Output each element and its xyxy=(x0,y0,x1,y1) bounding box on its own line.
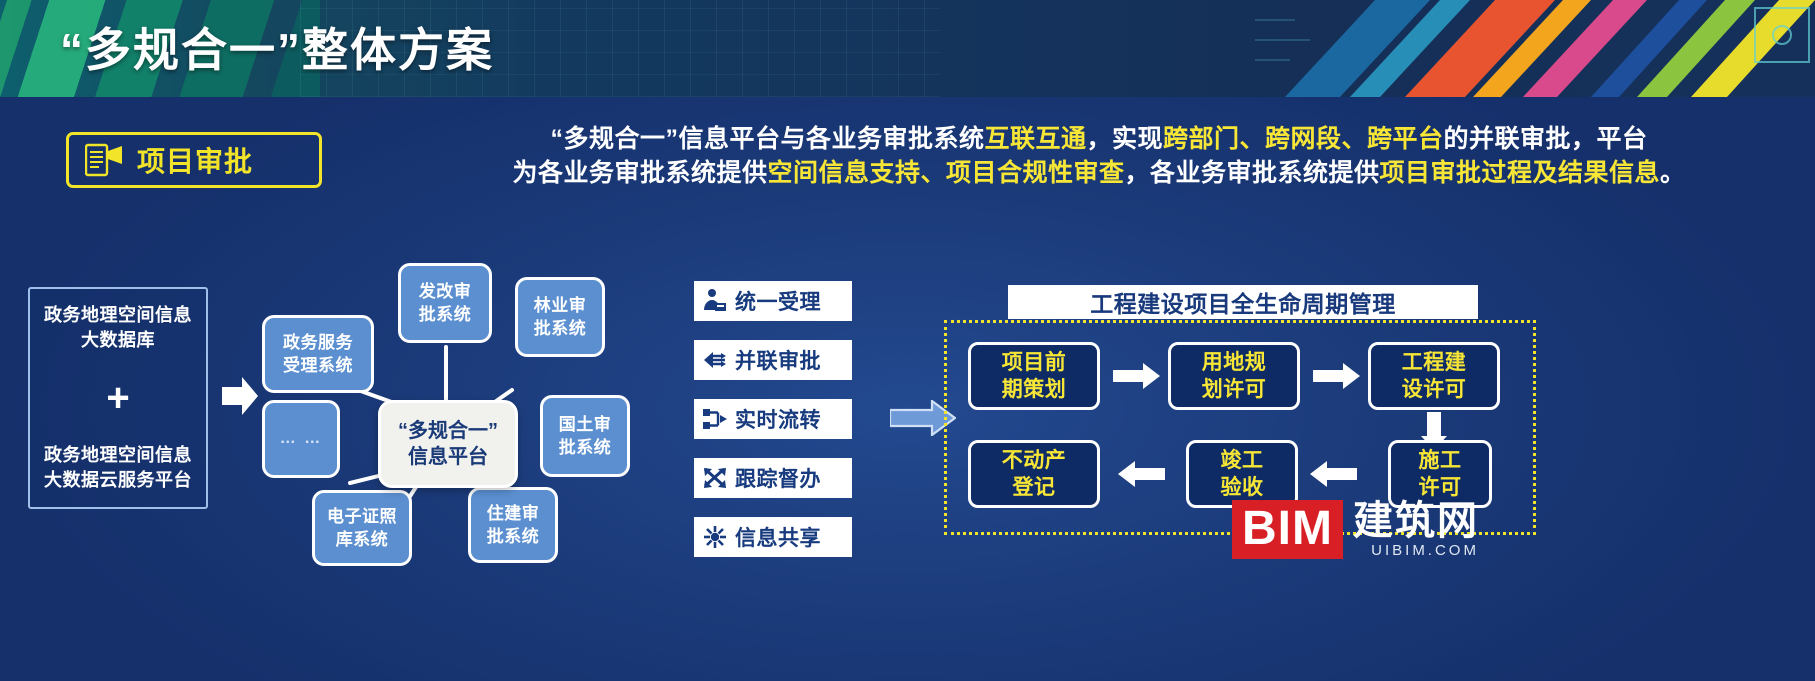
desc-l2-highlight-2: 项目审批过程及结果信息 xyxy=(1380,159,1661,187)
lifecycle-step-3-label: 工程建 设许可 xyxy=(1402,349,1467,403)
lifecycle-step-5[interactable]: 竣工 验收 xyxy=(1186,440,1298,508)
document-approval-icon xyxy=(85,143,125,177)
section-label-project-approval[interactable]: 项目审批 xyxy=(66,132,322,188)
watermark-cn-text: 建筑网 xyxy=(1353,500,1479,542)
desc-l2-c: 。 xyxy=(1660,159,1686,187)
desc-l2-b: ，各业务审批系统提供 xyxy=(1124,159,1379,187)
description-line-2: 为各业务审批系统提供空间信息支持、项目合规性审查，各业务审批系统提供项目审批过程… xyxy=(404,156,1794,190)
description-paragraph: “多规合一”信息平台与各业务审批系统互联互通，实现跨部门、跨网段、跨平台的并联审… xyxy=(404,122,1794,190)
feature-label-3: 实时流转 xyxy=(735,404,821,434)
feature-item-tracking-supervision[interactable]: 跟踪督办 xyxy=(694,458,852,498)
slide-root: “多规合一”整体方案 项目审批 “多规合一”信息平台与各业务审批系统互联互通，实… xyxy=(0,0,1815,681)
lifecycle-step-1-label: 项目前 期策划 xyxy=(1002,349,1067,403)
hub-node-housing[interactable]: 住建审 批系统 xyxy=(468,487,558,563)
header-decorative-shapes xyxy=(1255,0,1815,97)
hub-node-forestry-label: 林业审 批系统 xyxy=(534,294,587,340)
lifecycle-step-1[interactable]: 项目前 期策划 xyxy=(968,342,1100,410)
lifecycle-step-2-label: 用地规 划许可 xyxy=(1202,349,1267,403)
hub-node-fgw[interactable]: 发改审 批系统 xyxy=(398,263,492,343)
lifecycle-step-6[interactable]: 不动产 登记 xyxy=(968,440,1100,508)
description-line-1: “多规合一”信息平台与各业务审批系统互联互通，实现跨部门、跨网段、跨平台的并联审… xyxy=(404,122,1794,156)
feature-label-4: 跟踪督办 xyxy=(735,463,821,493)
desc-l1-c: 的并联审批，平台 xyxy=(1444,125,1648,153)
desc-l1-highlight-2: 跨部门、跨网段、跨平台 xyxy=(1163,125,1444,153)
hub-center-platform[interactable]: “多规合一” 信息平台 xyxy=(378,400,518,488)
lifecycle-step-5-label: 竣工 验收 xyxy=(1221,447,1264,501)
flow-transfer-icon xyxy=(702,406,728,432)
feature-item-info-sharing[interactable]: 信息共享 xyxy=(694,517,852,557)
desc-l1-a: “多规合一”信息平台与各业务审批系统 xyxy=(550,125,984,153)
data-source-block: 政务地理空间信息 大数据库 + 政务地理空间信息 大数据云服务平台 xyxy=(28,287,208,509)
lifecycle-arrow-5-to-6-icon xyxy=(1118,461,1166,487)
data-source-item-2: 政务地理空间信息 大数据云服务平台 xyxy=(44,443,192,493)
hub-node-ecert-label: 电子证照 库系统 xyxy=(327,505,397,551)
feature-label-1: 统一受理 xyxy=(735,286,821,316)
hub-center-label: “多规合一” 信息平台 xyxy=(398,418,498,470)
hub-node-land-label: 国土审 批系统 xyxy=(559,413,612,459)
section-label-text: 项目审批 xyxy=(137,140,253,180)
watermark-bim-text: BIM xyxy=(1232,500,1343,559)
watermark: BIM 建筑网 UIBIM.COM xyxy=(1232,500,1479,559)
feature-item-unified-acceptance[interactable]: 统一受理 xyxy=(694,281,852,321)
platform-hub-diagram: 发改审 批系统 政务服务 受理系统 林业审 批系统 国土审 批系统 住建审 批系… xyxy=(250,215,670,565)
lifecycle-step-4[interactable]: 施工 许可 xyxy=(1388,440,1492,508)
lifecycle-step-4-label: 施工 许可 xyxy=(1419,447,1462,501)
share-network-icon xyxy=(702,524,728,550)
lifecycle-step-2[interactable]: 用地规 划许可 xyxy=(1168,342,1300,410)
feature-item-realtime-flow[interactable]: 实时流转 xyxy=(694,399,852,439)
lifecycle-title: 工程建设项目全生命周期管理 xyxy=(1008,285,1478,319)
slide-header: “多规合一”整体方案 xyxy=(0,0,1815,97)
feature-item-parallel-approval[interactable]: 并联审批 xyxy=(694,340,852,380)
feature-label-2: 并联审批 xyxy=(735,345,821,375)
hub-node-ecert[interactable]: 电子证照 库系统 xyxy=(312,490,412,566)
reception-desk-icon xyxy=(702,288,728,314)
desc-l2-highlight-1: 空间信息支持、项目合规性审查 xyxy=(767,159,1124,187)
data-source-item-1: 政务地理空间信息 大数据库 xyxy=(44,303,192,353)
cross-arrows-icon xyxy=(702,465,728,491)
hub-node-more-label: … … xyxy=(280,430,322,448)
page-title: “多规合一”整体方案 xyxy=(60,14,494,80)
hub-node-zwfw-label: 政务服务 受理系统 xyxy=(283,331,353,377)
plus-sign: + xyxy=(106,383,129,413)
desc-l2-a: 为各业务审批系统提供 xyxy=(512,159,767,187)
parallel-arrows-icon xyxy=(702,347,728,373)
hub-node-forestry[interactable]: 林业审 批系统 xyxy=(515,277,605,357)
hub-node-zwfw[interactable]: 政务服务 受理系统 xyxy=(262,315,374,393)
lifecycle-title-text: 工程建设项目全生命周期管理 xyxy=(1090,285,1396,319)
watermark-right: 建筑网 UIBIM.COM xyxy=(1343,500,1479,559)
lifecycle-arrow-1-to-2-icon xyxy=(1113,363,1161,389)
hub-node-more[interactable]: … … xyxy=(262,400,340,478)
lifecycle-step-6-label: 不动产 登记 xyxy=(1002,447,1067,501)
lifecycle-arrow-2-to-3-icon xyxy=(1313,363,1361,389)
lifecycle-step-3[interactable]: 工程建 设许可 xyxy=(1368,342,1500,410)
watermark-url-text: UIBIM.COM xyxy=(1353,542,1479,559)
feature-label-5: 信息共享 xyxy=(735,522,821,552)
lifecycle-arrow-4-to-5-icon xyxy=(1310,461,1358,487)
hub-node-fgw-label: 发改审 批系统 xyxy=(419,280,472,326)
desc-l1-b: ，实现 xyxy=(1086,125,1163,153)
hub-node-housing-label: 住建审 批系统 xyxy=(487,502,540,548)
desc-l1-highlight-1: 互联互通 xyxy=(984,125,1086,153)
hub-node-land[interactable]: 国土审 批系统 xyxy=(540,395,630,477)
